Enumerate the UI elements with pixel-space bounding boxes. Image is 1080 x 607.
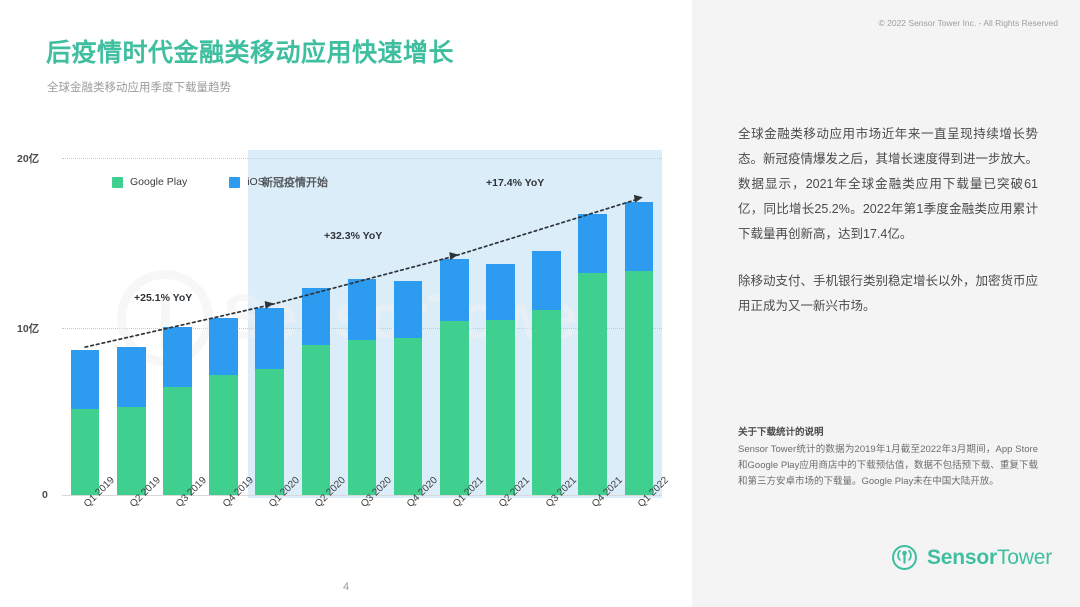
bar-segment-google-play: [440, 321, 469, 495]
bar-q3-2019[interactable]: [163, 327, 192, 496]
bar-q4-2021[interactable]: [578, 214, 607, 495]
annotation-yoy-2020: +32.3% YoY: [324, 230, 382, 242]
bar-q1-2020[interactable]: [255, 308, 284, 495]
annotation-yoy-2019: +25.1% YoY: [134, 292, 192, 304]
bar-segment-google-play: [532, 310, 561, 495]
bar-segment-ios: [394, 281, 423, 338]
y-tick-label-20: 20亿: [17, 151, 39, 166]
bar-segment-ios: [117, 347, 146, 408]
bar-segment-ios: [486, 264, 515, 320]
bar-segment-ios: [209, 318, 238, 375]
body-paragraph-1: 全球金融类移动应用市场近年来一直呈现持续增长势态。新冠疫情爆发之后，其增长速度得…: [738, 122, 1038, 247]
bar-q1-2019[interactable]: [71, 350, 100, 495]
page-title: 后疫情时代金融类移动应用快速增长: [46, 33, 454, 69]
brand-name-light: Tower: [997, 546, 1052, 569]
body-paragraph-2: 除移动支付、手机银行类别稳定增长以外，加密货币应用正成为又一新兴市场。: [738, 269, 1038, 319]
legend-label-google-play: Google Play: [130, 176, 187, 188]
y-tick-label-0: 0: [42, 489, 48, 501]
chart-panel: 后疫情时代金融类移动应用快速增长 全球金融类移动应用季度下载量趋势 新冠疫情开始…: [0, 0, 692, 607]
legend-item-google-play[interactable]: Google Play: [112, 176, 187, 188]
bar-segment-ios: [440, 259, 469, 321]
bar-segment-ios: [302, 288, 331, 345]
bar-q4-2019[interactable]: [209, 318, 238, 495]
legend-swatch-ios: [229, 177, 240, 188]
bar-segment-ios: [578, 214, 607, 273]
bar-segment-ios: [348, 279, 377, 340]
bar-q1-2021[interactable]: [440, 259, 469, 495]
bar-segment-google-play: [578, 273, 607, 495]
sensor-tower-logo: SensorTower: [891, 544, 1052, 571]
body-copy: 全球金融类移动应用市场近年来一直呈现持续增长势态。新冠疫情爆发之后，其增长速度得…: [738, 122, 1038, 341]
bar-q3-2021[interactable]: [532, 251, 561, 495]
text-panel: © 2022 Sensor Tower Inc. - All Rights Re…: [692, 0, 1080, 607]
bar-segment-google-play: [302, 345, 331, 495]
bar-segment-google-play: [486, 320, 515, 495]
bar-q2-2021[interactable]: [486, 264, 515, 495]
slide-root: 后疫情时代金融类移动应用快速增长 全球金融类移动应用季度下载量趋势 新冠疫情开始…: [0, 0, 1080, 607]
bar-segment-google-play: [625, 271, 654, 495]
bar-q1-2022[interactable]: [625, 202, 654, 495]
downloads-bar-chart: 新冠疫情开始 20亿 10亿 0 SensorTower Google Play: [62, 150, 662, 498]
axis-baseline: [62, 495, 662, 496]
methodology-note: 关于下载统计的说明 Sensor Tower统计的数据为2019年1月截至202…: [738, 424, 1038, 490]
bar-q3-2020[interactable]: [348, 279, 377, 495]
brand-name-bold: Sensor: [927, 546, 997, 569]
bar-segment-ios: [255, 308, 284, 369]
methodology-note-title: 关于下载统计的说明: [738, 424, 1038, 438]
copyright-notice: © 2022 Sensor Tower Inc. - All Rights Re…: [879, 18, 1059, 28]
legend-label-ios: iOS: [247, 176, 265, 188]
chart-legend: Google Play iOS: [112, 176, 265, 188]
sensor-tower-antenna-icon: [891, 544, 918, 571]
chart-plot-area: 新冠疫情开始 20亿 10亿 0 SensorTower Google Play: [62, 150, 662, 498]
annotation-yoy-2021: +17.4% YoY: [486, 177, 544, 189]
legend-swatch-google-play: [112, 177, 123, 188]
bar-segment-ios: [532, 251, 561, 310]
bar-segment-google-play: [163, 387, 192, 495]
methodology-note-body: Sensor Tower统计的数据为2019年1月截至2022年3月期间，App…: [738, 442, 1038, 490]
bar-segment-ios: [163, 327, 192, 388]
bar-q2-2020[interactable]: [302, 288, 331, 495]
bar-segment-google-play: [394, 338, 423, 495]
bar-q4-2020[interactable]: [394, 281, 423, 495]
legend-item-ios[interactable]: iOS: [229, 176, 265, 188]
bar-segment-google-play: [209, 375, 238, 495]
bar-segment-google-play: [117, 407, 146, 495]
page-number: 4: [0, 581, 692, 593]
y-tick-label-10: 10亿: [17, 321, 39, 336]
x-axis-labels: Q1 2019Q2 2019Q3 2019Q4 2019Q1 2020Q2 20…: [62, 502, 662, 572]
bar-segment-google-play: [255, 369, 284, 495]
brand-wordmark: SensorTower: [927, 546, 1052, 570]
bar-series-container: [62, 150, 662, 495]
bar-segment-ios: [71, 350, 100, 409]
bar-segment-google-play: [71, 409, 100, 495]
page-subtitle: 全球金融类移动应用季度下载量趋势: [47, 79, 231, 95]
bar-q2-2019[interactable]: [117, 347, 146, 495]
bar-segment-google-play: [348, 340, 377, 495]
bar-segment-ios: [625, 202, 654, 271]
